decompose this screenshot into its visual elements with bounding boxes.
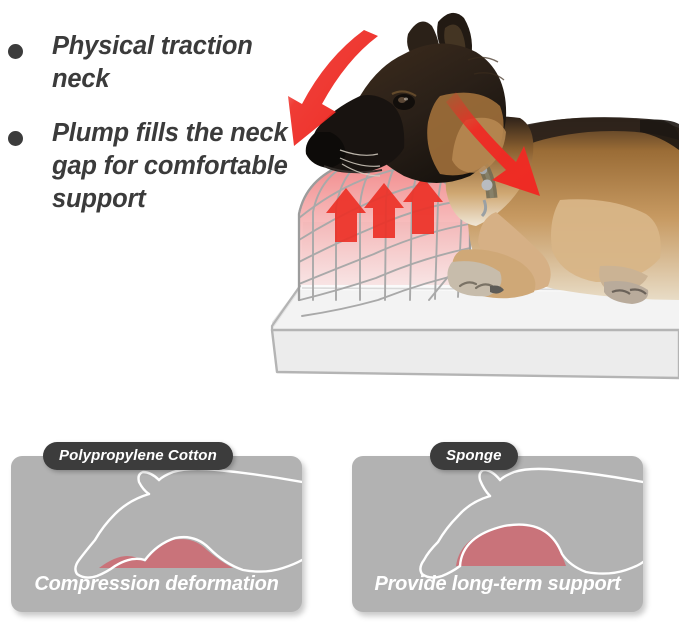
- bullet-text: Physical traction neck: [52, 30, 314, 95]
- material-comparison-section: Polypropylene Cotton Compression deforma…: [0, 410, 679, 626]
- product-feature-graphic: Physical traction neck Plump fills the n…: [0, 0, 679, 626]
- hero-section: Physical traction neck Plump fills the n…: [0, 0, 679, 410]
- material-badge: Sponge: [430, 442, 518, 470]
- material-badge: Polypropylene Cotton: [43, 442, 233, 470]
- list-item: Plump fills the neck gap for comfortable…: [0, 117, 330, 215]
- comparison-panel-polypropylene: Polypropylene Cotton Compression deforma…: [11, 456, 302, 612]
- bullet-dot-icon: [8, 44, 23, 59]
- bullet-text: Plump fills the neck gap for comfortable…: [52, 117, 314, 215]
- comparison-panel-sponge: Sponge Provide long-term support: [352, 456, 643, 612]
- panel-caption: Compression deformation: [11, 573, 302, 596]
- filling-shape-dome: [456, 524, 566, 566]
- panel-caption: Provide long-term support: [352, 573, 643, 596]
- bullet-dot-icon: [8, 131, 23, 146]
- list-item: Physical traction neck: [0, 30, 330, 95]
- feature-bullet-list: Physical traction neck Plump fills the n…: [0, 30, 330, 237]
